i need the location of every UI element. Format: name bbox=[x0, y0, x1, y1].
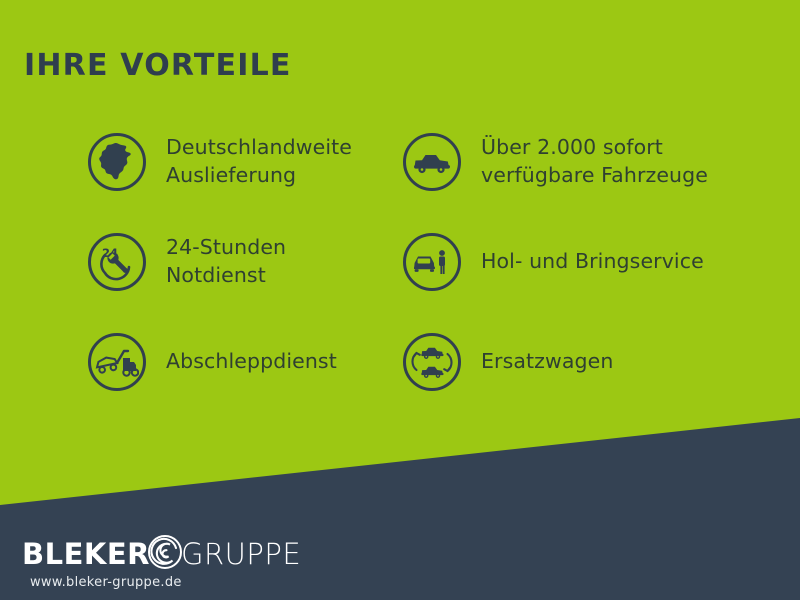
tow-truck-icon bbox=[88, 333, 146, 391]
page-title: IHRE VORTEILE bbox=[24, 48, 292, 83]
car-person-service-icon bbox=[403, 233, 461, 291]
germany-map-icon bbox=[88, 133, 146, 191]
benefit-item-abschleppdienst: Abschleppdienst bbox=[88, 312, 398, 412]
benefit-label: Abschleppdienst bbox=[166, 348, 337, 376]
benefits-column-left: Deutschlandweite Auslieferung 24 bbox=[88, 112, 398, 412]
benefit-item-24-stunden-notdienst: 24 24-Stunden Notdienst bbox=[88, 212, 398, 312]
benefit-item-deutschlandweite-auslieferung: Deutschlandweite Auslieferung bbox=[88, 112, 398, 212]
brand-logo: BLEKER GRUPPE bbox=[22, 534, 301, 574]
benefit-label: Deutschlandweite Auslieferung bbox=[166, 134, 352, 189]
website-url: www.bleker-gruppe.de bbox=[30, 575, 182, 590]
logo-secondary-text: GRUPPE bbox=[181, 540, 301, 569]
benefit-label: Ersatzwagen bbox=[481, 348, 613, 376]
logo-primary-text: BLEKER bbox=[22, 540, 150, 569]
spiral-ring-icon bbox=[146, 533, 184, 571]
car-icon bbox=[403, 133, 461, 191]
slide-root: IHRE VORTEILE Deutschlandweite Ausliefer… bbox=[0, 0, 800, 600]
benefit-item-hol-und-bringservice: Hol- und Bringservice bbox=[403, 212, 763, 312]
benefit-label: Hol- und Bringservice bbox=[481, 248, 704, 276]
clock-wrench-24h-icon: 24 bbox=[88, 233, 146, 291]
benefit-item-verfuegbare-fahrzeuge: Über 2.000 sofort verfügbare Fahrzeuge bbox=[403, 112, 763, 212]
benefit-label: 24-Stunden Notdienst bbox=[166, 234, 286, 289]
benefits-column-right: Über 2.000 sofort verfügbare Fahrzeuge bbox=[403, 112, 763, 412]
benefit-label: Über 2.000 sofort verfügbare Fahrzeuge bbox=[481, 134, 708, 189]
benefit-item-ersatzwagen: Ersatzwagen bbox=[403, 312, 763, 412]
two-cars-exchange-icon bbox=[403, 333, 461, 391]
